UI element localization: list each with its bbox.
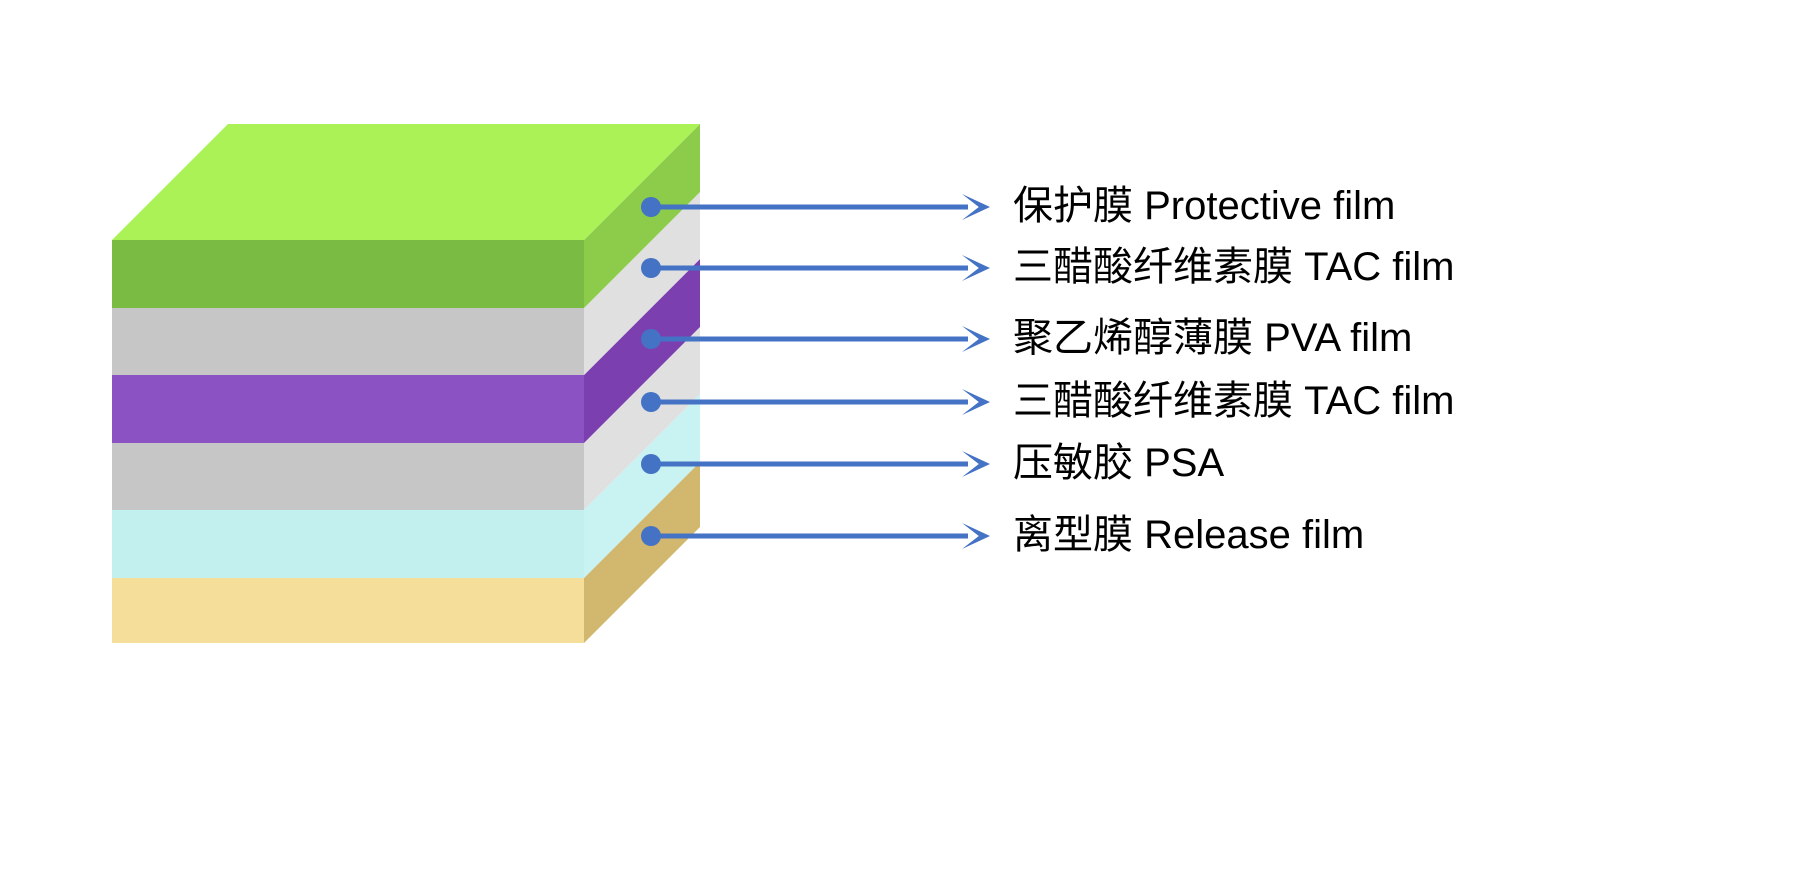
callout-dot-icon-release-film [641, 526, 661, 546]
diagram-canvas: 保护膜 Protective film三醋酸纤维素膜 TAC film聚乙烯醇薄… [0, 0, 1804, 872]
callout-dot-icon-protective-film [641, 197, 661, 217]
callout-dot-icon-tac-film-lower [641, 392, 661, 412]
psa-front-face [112, 510, 584, 578]
callout-dot-icon-pva-film [641, 329, 661, 349]
layer-stack-illustration [0, 0, 1804, 872]
pva-film-front-face [112, 375, 584, 443]
release-film-front-face [112, 578, 584, 643]
callout-dot-icon-tac-film-upper [641, 258, 661, 278]
tac-film-lower-front-face [112, 443, 584, 510]
protective-film-front-face [112, 240, 584, 308]
callout-dot-icon-psa [641, 454, 661, 474]
film-stack-3d [112, 124, 700, 643]
tac-film-upper-front-face [112, 308, 584, 375]
